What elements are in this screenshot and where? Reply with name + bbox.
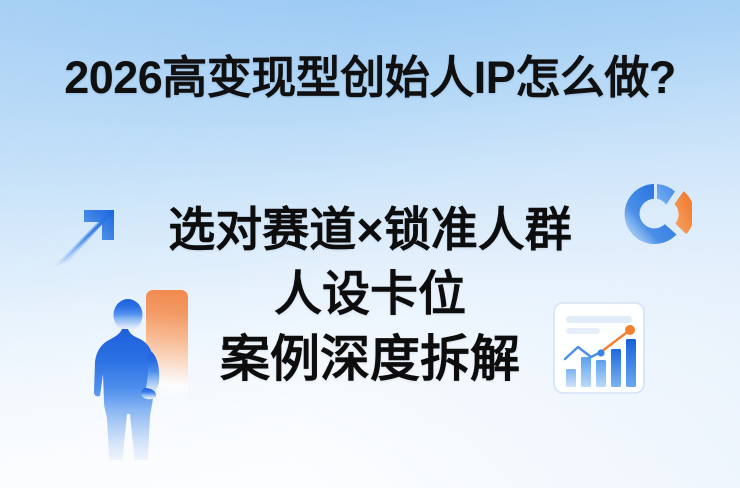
poster-canvas: 2026高变现型创始人IP怎么做? — [0, 0, 740, 488]
bar-chart-dashboard-icon — [548, 297, 652, 401]
page-title: 2026高变现型创始人IP怎么做? — [0, 52, 740, 104]
donut-chart-icon — [620, 180, 692, 252]
